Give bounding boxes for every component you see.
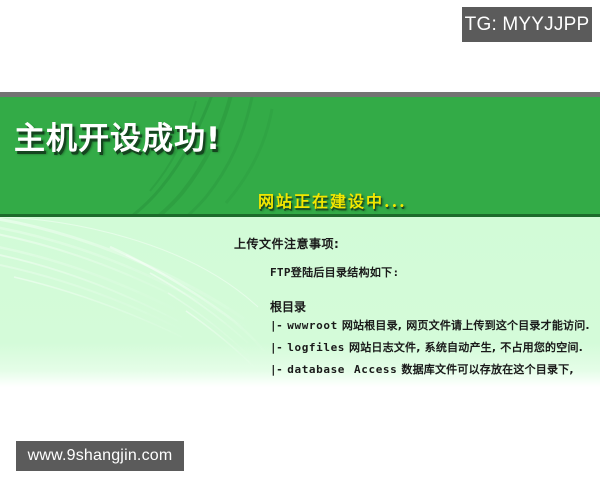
- directory-description: 数据库文件可以存放在这个目录下,: [401, 363, 573, 376]
- root-directory-label: 根目录: [270, 298, 306, 315]
- tree-branch-icon: |-: [270, 319, 282, 332]
- banner-title: 主机开设成功!: [14, 113, 221, 158]
- directory-name-extra: Access: [349, 363, 401, 376]
- directory-entry-wwwroot: |-wwwroot网站根目录, 网页文件请上传到这个目录才能访问.: [270, 317, 590, 333]
- banner-subtitle: 网站正在建设中...: [258, 188, 407, 212]
- directory-entry-logfiles: |-logfiles网站日志文件, 系统自动产生, 不占用您的空间.: [270, 339, 583, 355]
- directory-name: wwwroot: [282, 319, 342, 332]
- tree-branch-icon: |-: [270, 363, 282, 376]
- directory-description: 网站日志文件, 系统自动产生, 不占用您的空间.: [349, 341, 583, 354]
- tree-branch-icon: |-: [270, 341, 282, 354]
- directory-name: database: [282, 363, 349, 376]
- directory-name: logfiles: [282, 341, 349, 354]
- watermark-badge-top: TG: MYYJJPP: [462, 7, 592, 42]
- watermark-badge-bottom: www.9shangjin.com: [16, 441, 184, 471]
- directory-entry-database: |-databaseAccess数据库文件可以存放在这个目录下,: [270, 361, 574, 377]
- directory-description: 网站根目录, 网页文件请上传到这个目录才能访问.: [342, 319, 590, 332]
- ftp-structure-line: FTP登陆后目录结构如下:: [270, 264, 399, 280]
- upload-notice-heading: 上传文件注意事项:: [234, 235, 339, 252]
